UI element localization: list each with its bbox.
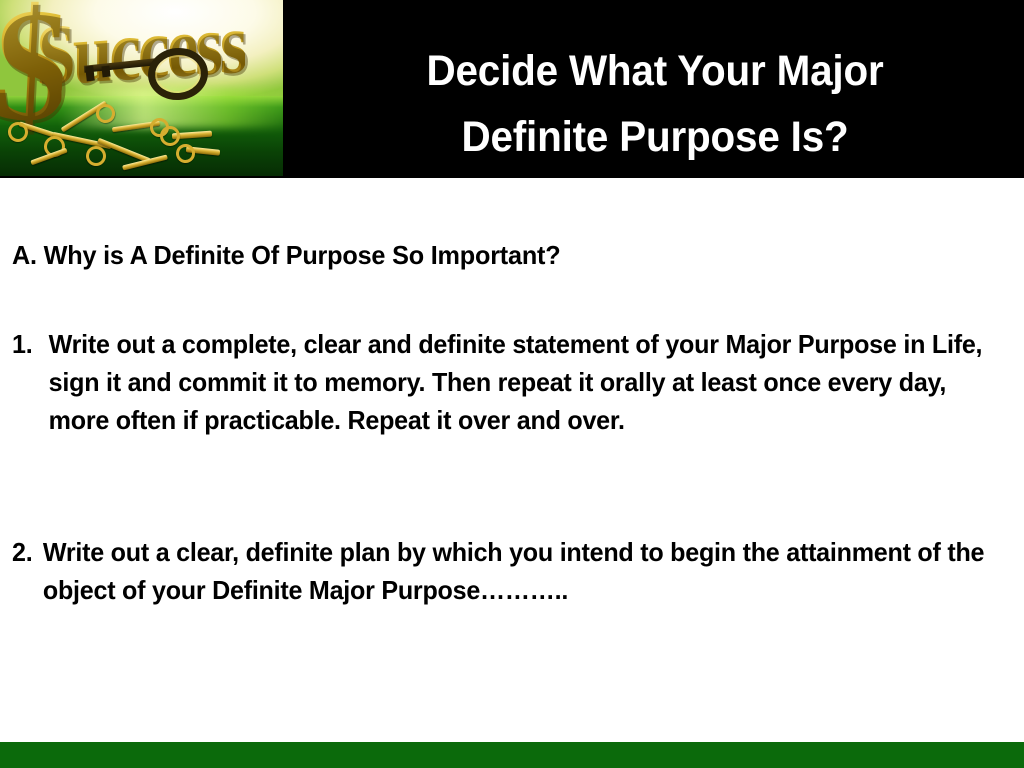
list-item: 2. Write out a clear, definite plan by w…: [12, 533, 987, 609]
list-item-text: Write out a clear, definite plan by whic…: [43, 533, 987, 609]
scattered-keys-group: [0, 108, 283, 176]
list-item-text: Write out a complete, clear and definite…: [49, 325, 987, 439]
key-bit-icon: [85, 66, 95, 82]
footer-accent-bar: [0, 742, 1024, 768]
list-item-marker: 1.: [12, 325, 45, 363]
slide: Success $ Decide What Your Major Definit…: [0, 0, 1024, 768]
section-heading-a: A. Why is A Definite Of Purpose So Impor…: [12, 238, 982, 272]
key-bit-icon: [101, 66, 110, 78]
list-item: 1. Write out a complete, clear and defin…: [12, 325, 987, 439]
image-success-word: Success: [36, 1, 245, 102]
page-title: Decide What Your Major Definite Purpose …: [321, 38, 988, 170]
list-item-marker: 2.: [12, 533, 45, 571]
body-content: A. Why is A Definite Of Purpose So Impor…: [0, 178, 1024, 742]
success-gold-keys-image: Success $: [0, 0, 283, 176]
